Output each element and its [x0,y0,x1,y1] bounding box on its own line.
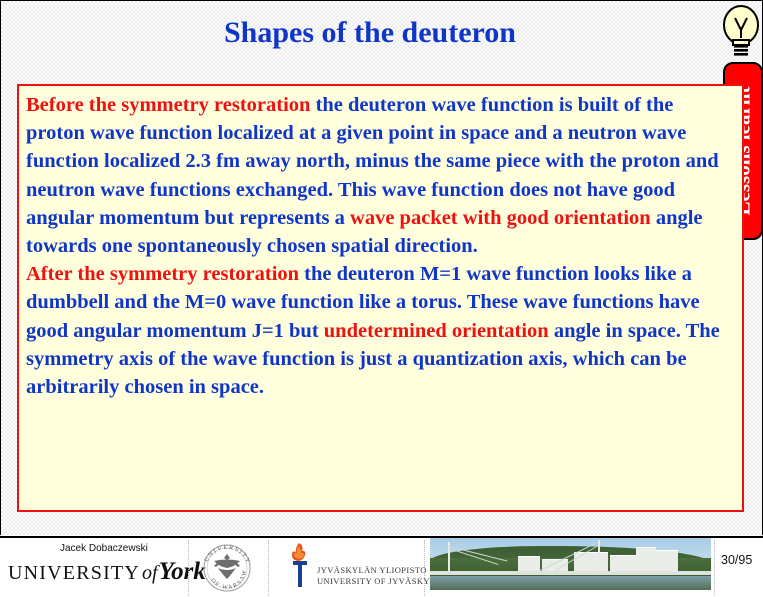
slide: Shapes of the deuteron Lessons learnt Be… [0,0,763,597]
photo-building [656,550,678,572]
photo-building [636,547,656,572]
paragraph-1-highlight-2: wave packet with good orientation [350,207,651,229]
paragraph-2: After the symmetry restoration the deute… [26,260,736,401]
content-box: Before the symmetry restoration the deut… [17,84,744,512]
photo-bridge-mast [598,540,600,574]
jyvaskyla-logo-line1: JYVÄSKYLÄN YLIOPISTO [317,565,442,576]
paragraph-1: Before the symmetry restoration the deut… [26,91,736,260]
warsaw-eagle-seal-icon: UNIVERSITY OF WARSAW [198,540,256,596]
torch-icon [285,541,315,591]
university-of-jyvaskyla-logo: JYVÄSKYLÄN YLIOPISTO UNIVERSITY OF JYVÄS… [285,541,425,593]
footer-divider-1 [188,540,189,596]
jyvaskyla-logo-text: JYVÄSKYLÄN YLIOPISTO UNIVERSITY OF JYVÄS… [317,565,442,587]
university-of-york-logo: UNIVERSITYofYork [8,558,206,586]
footer-divider-4 [714,540,715,596]
jyvaskyla-logo-line2: UNIVERSITY OF JYVÄSKYLÄ [317,576,442,587]
campus-photo [430,538,711,590]
author-name: Jacek Dobaczewski [60,543,148,554]
photo-building [518,556,540,572]
paragraph-2-highlight-2: undetermined orientation [324,320,549,342]
paragraph-2-highlight-1: After the symmetry restoration [26,263,299,285]
york-logo-of: of [142,562,158,584]
york-logo-university: UNIVERSITY [8,562,140,584]
photo-bridge-deck [430,571,711,575]
lightbulb-icon [719,4,763,58]
footer-divider-2 [268,540,269,596]
paragraph-1-highlight-1: Before the symmetry restoration [26,94,310,116]
page-number: 30/95 [721,553,752,567]
page-title: Shapes of the deuteron [0,16,740,50]
photo-water [430,576,711,590]
